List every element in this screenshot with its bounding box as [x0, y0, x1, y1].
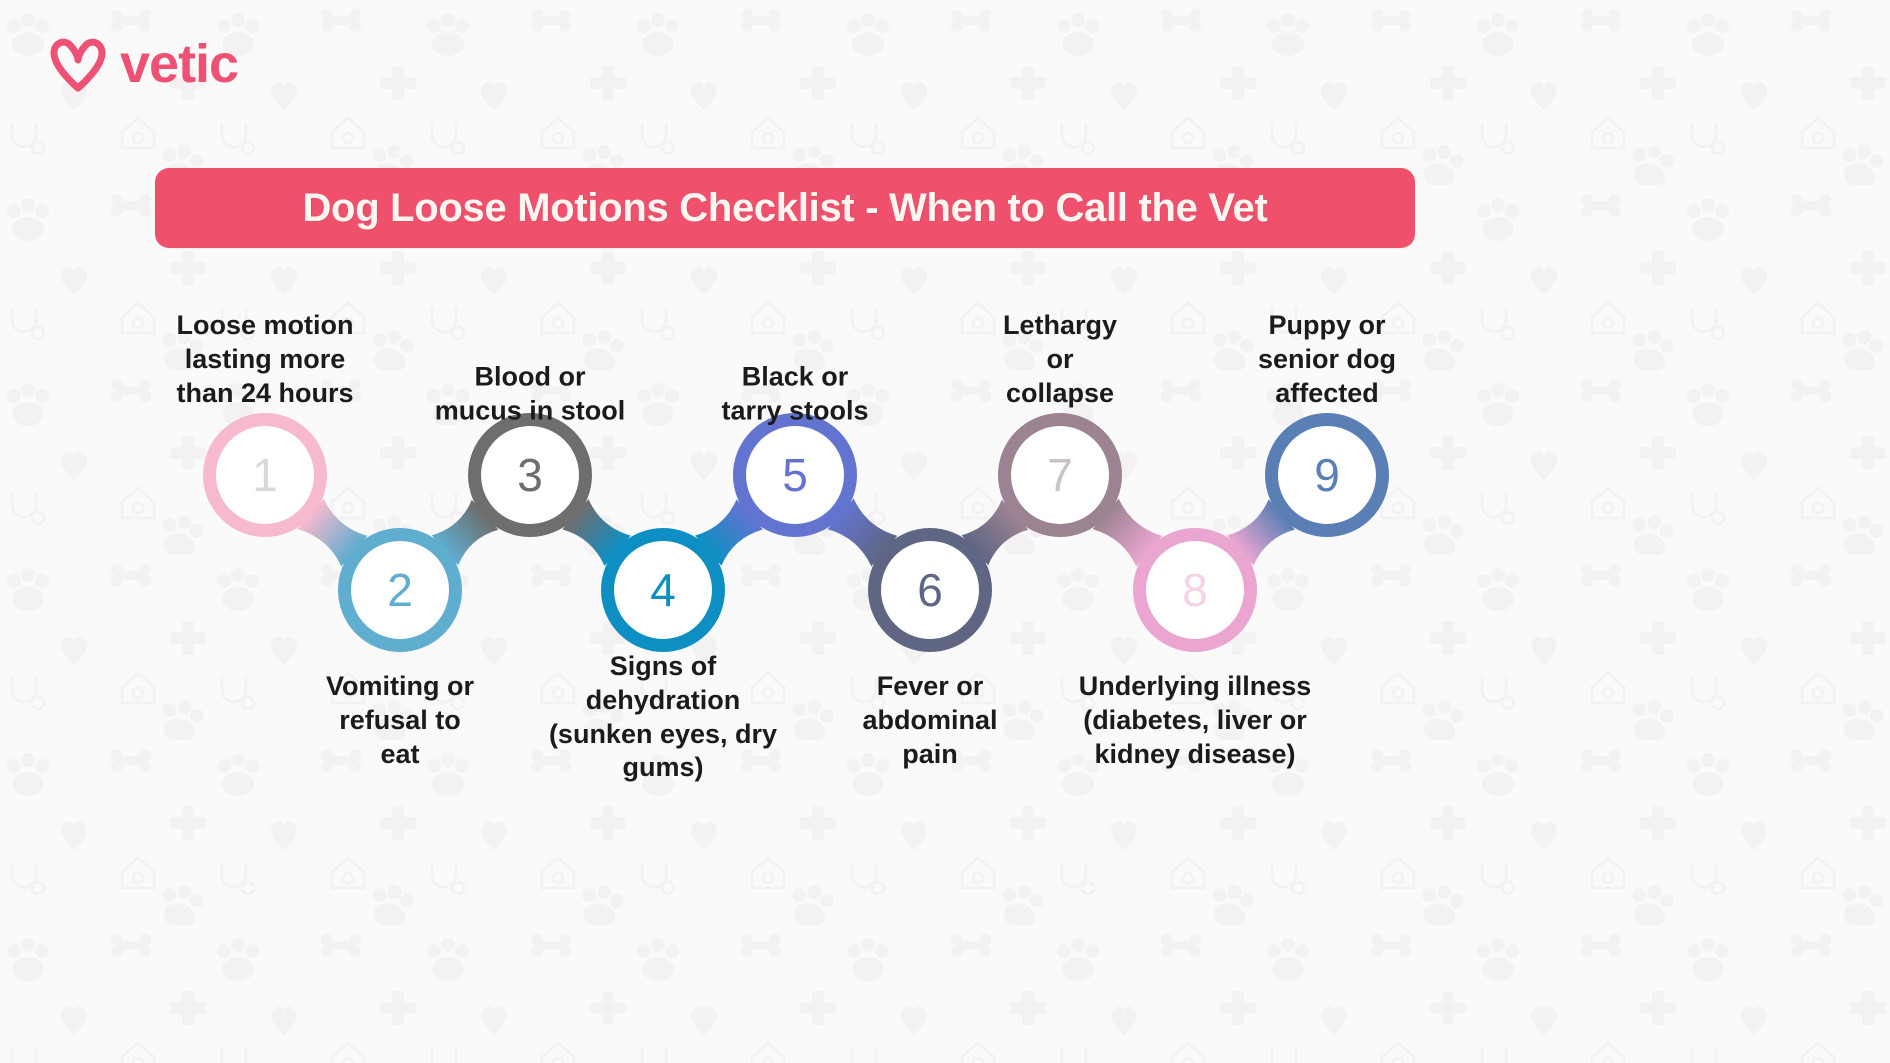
step-node-4[interactable]: 4 [601, 528, 725, 652]
title-banner: Dog Loose Motions Checklist - When to Ca… [155, 168, 1415, 248]
step-number-1: 1 [252, 448, 278, 502]
step-node-7[interactable]: 7 [998, 413, 1122, 537]
step-node-9[interactable]: 9 [1265, 413, 1389, 537]
step-label-1: Loose motion lasting more than 24 hours [120, 309, 410, 410]
step-number-7: 7 [1047, 448, 1073, 502]
step-node-3[interactable]: 3 [468, 413, 592, 537]
step-label-8: Underlying illness (diabetes, liver or k… [1050, 670, 1340, 771]
step-number-9: 9 [1314, 448, 1340, 502]
page-title: Dog Loose Motions Checklist - When to Ca… [302, 186, 1267, 231]
step-label-9: Puppy or senior dog affected [1182, 309, 1472, 410]
step-number-3: 3 [517, 448, 543, 502]
step-node-6[interactable]: 6 [868, 528, 992, 652]
step-label-6: Fever or abdominal pain [785, 670, 1075, 771]
step-node-8[interactable]: 8 [1133, 528, 1257, 652]
step-node-1[interactable]: 1 [203, 413, 327, 537]
step-number-4: 4 [650, 563, 676, 617]
step-label-4: Signs of dehydration (sunken eyes, dry g… [518, 650, 808, 785]
step-node-2[interactable]: 2 [338, 528, 462, 652]
step-label-2: Vomiting or refusal to eat [255, 670, 545, 771]
brand-logo[interactable]: vetic [50, 36, 238, 92]
step-label-3: Blood or mucus in stool [385, 361, 675, 429]
checklist-flow: 1Loose motion lasting more than 24 hours… [0, 270, 1890, 970]
heart-v-icon [50, 36, 106, 92]
step-node-5[interactable]: 5 [733, 413, 857, 537]
step-label-7: Lethargy or collapse [915, 309, 1205, 410]
step-number-6: 6 [917, 563, 943, 617]
step-number-5: 5 [782, 448, 808, 502]
step-number-8: 8 [1182, 563, 1208, 617]
step-label-5: Black or tarry stools [650, 361, 940, 429]
step-number-2: 2 [387, 563, 413, 617]
brand-name: vetic [120, 37, 238, 91]
